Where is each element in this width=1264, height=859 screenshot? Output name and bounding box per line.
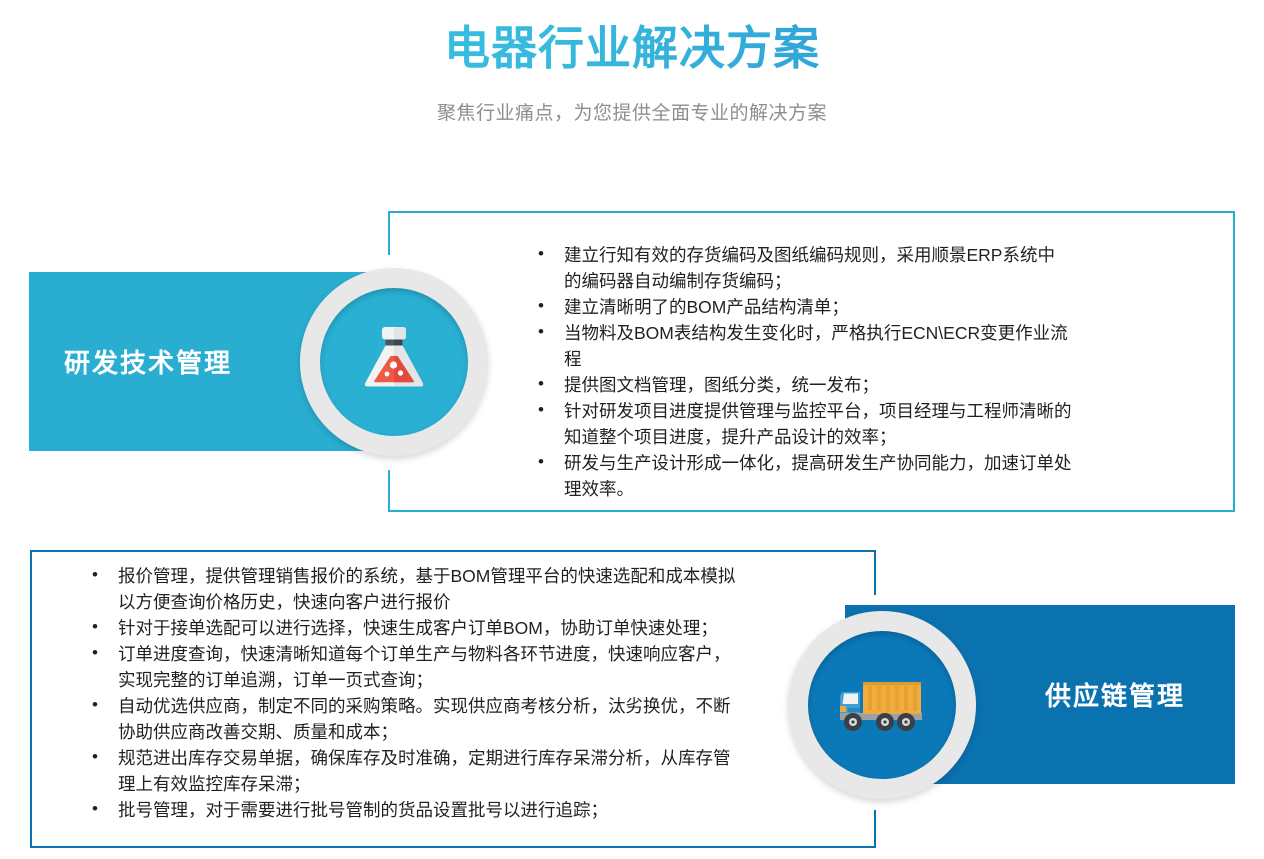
section-2-bullet-list: 报价管理，提供管理销售报价的系统，基于BOM管理平台的快速选配和成本模拟以方便查… <box>86 563 736 823</box>
section-2-medallion <box>788 611 976 799</box>
truck-icon <box>836 668 928 743</box>
section-2-medallion-inner <box>808 631 956 779</box>
section-1-medallion-inner <box>320 288 468 436</box>
list-item: 提供图文档管理，图纸分类，统一发布； <box>532 372 1072 398</box>
list-item: 建立行知有效的存货编码及图纸编码规则，采用顺景ERP系统中的编码器自动编制存货编… <box>532 242 1072 294</box>
section-1-bullet-list: 建立行知有效的存货编码及图纸编码规则，采用顺景ERP系统中的编码器自动编制存货编… <box>532 242 1072 502</box>
list-item: 针对于接单选配可以进行选择，快速生成客户订单BOM，协助订单快速处理； <box>86 615 736 641</box>
list-item: 规范进出库存交易单据，确保库存及时准确，定期进行库存呆滞分析，从库存管理上有效监… <box>86 745 736 797</box>
list-item: 研发与生产设计形成一体化，提高研发生产协同能力，加速订单处理效率。 <box>532 450 1072 502</box>
list-item: 自动优选供应商，制定不同的采购策略。实现供应商考核分析，汰劣换优，不断协助供应商… <box>86 693 736 745</box>
list-item: 报价管理，提供管理销售报价的系统，基于BOM管理平台的快速选配和成本模拟以方便查… <box>86 563 736 615</box>
slide-canvas: 电器行业解决方案 聚焦行业痛点，为您提供全面专业的解决方案 研发技术管理 <box>0 0 1264 859</box>
section-1-label: 研发技术管理 <box>64 343 232 380</box>
list-item: 针对研发项目进度提供管理与监控平台，项目经理与工程师清晰的知道整个项目进度，提升… <box>532 398 1072 450</box>
section-1-medallion <box>300 268 488 456</box>
list-item: 批号管理，对于需要进行批号管制的货品设置批号以进行追踪； <box>86 797 736 823</box>
section-2-label: 供应链管理 <box>1045 676 1185 713</box>
list-item: 当物料及BOM表结构发生变化时，严格执行ECN\ECR变更作业流程 <box>532 320 1072 372</box>
page-title: 电器行业解决方案 <box>0 22 1264 75</box>
flask-icon <box>352 318 436 407</box>
page-subtitle: 聚焦行业痛点，为您提供全面专业的解决方案 <box>0 98 1264 125</box>
list-item: 建立清晰明了的BOM产品结构清单； <box>532 294 1072 320</box>
list-item: 订单进度查询，快速清晰知道每个订单生产与物料各环节进度，快速响应客户，实现完整的… <box>86 641 736 693</box>
